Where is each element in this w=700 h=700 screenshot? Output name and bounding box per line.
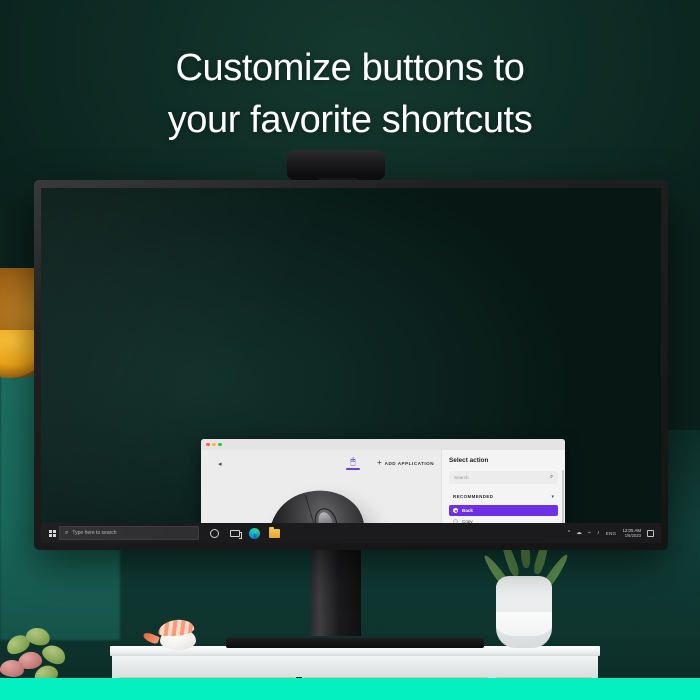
headline-line-2: your favorite shortcuts <box>0 94 700 146</box>
action-label: Back <box>462 508 473 513</box>
section-header-recommended[interactable]: RECOMMENDED ▾ <box>449 491 558 502</box>
plant-vase-band <box>496 612 552 636</box>
panel-scrollbar[interactable] <box>562 470 564 528</box>
taskbar-pinned-icons <box>209 528 280 539</box>
brand-accent-strip <box>0 678 700 700</box>
cortana-icon[interactable] <box>209 528 220 539</box>
search-icon: ⌕ <box>65 530 68 536</box>
network-icon[interactable]: ⌁ <box>588 530 591 536</box>
volume-icon[interactable]: ♪ <box>597 530 600 536</box>
back-button[interactable]: ◂ <box>218 461 222 468</box>
product-marketing-scene: logi ◂ 🖱 <box>0 0 700 700</box>
add-application-label: ADD APPLICATION <box>385 461 434 466</box>
task-view-icon[interactable] <box>229 528 240 539</box>
start-button[interactable] <box>45 530 59 537</box>
monitor-screen: ◂ 🖱 + ADD APPLICATION <box>41 188 661 543</box>
tab-mouse[interactable]: 🖱 <box>343 456 363 470</box>
taskbar-search-placeholder: Type here to search <box>72 530 116 536</box>
maximize-icon[interactable] <box>218 443 222 447</box>
action-search-field[interactable]: Search ⌕ <box>449 471 558 484</box>
file-explorer-icon[interactable] <box>269 528 280 539</box>
edge-icon[interactable] <box>249 528 260 539</box>
clock[interactable]: 12:05 AM 1/6/2023 <box>622 528 641 539</box>
webcam-body: logi <box>287 150 385 180</box>
tray-overflow-icon[interactable]: ^ <box>568 530 571 536</box>
system-tray: ^ ☁ ⌁ ♪ ENG 12:05 AM 1/6/2023 <box>568 528 657 539</box>
page-title: Customize buttons to your favorite short… <box>0 42 700 146</box>
close-icon[interactable] <box>206 443 210 447</box>
window-titlebar[interactable] <box>201 439 565 450</box>
search-icon[interactable]: ⌕ <box>550 475 553 480</box>
app-toolbar: ◂ 🖱 + ADD APPLICATION <box>201 450 441 478</box>
plus-icon: + <box>377 459 382 467</box>
section-label: RECOMMENDED <box>453 494 493 499</box>
chevron-down-icon[interactable]: ▾ <box>551 495 554 499</box>
panel-title: Select action <box>449 457 558 464</box>
mouse-icon: 🖱 <box>343 456 363 466</box>
radio-icon <box>453 508 458 513</box>
action-item-back[interactable]: Back <box>449 505 558 516</box>
clock-date: 1/6/2023 <box>622 533 641 539</box>
notifications-icon[interactable] <box>647 530 654 537</box>
language-indicator[interactable]: ENG <box>606 531 617 536</box>
headline-line-1: Customize buttons to <box>176 47 525 89</box>
action-search-placeholder: Search <box>454 475 469 480</box>
windows-taskbar: ⌕ Type here to search ^ ☁ ⌁ ♪ ENG 12:05 … <box>41 523 661 543</box>
tab-active-indicator <box>346 468 360 470</box>
monitor-stand-neck <box>311 548 361 636</box>
taskbar-search-input[interactable]: ⌕ Type here to search <box>59 526 199 540</box>
monitor-base-plate <box>226 638 484 648</box>
add-application-button[interactable]: + ADD APPLICATION <box>377 459 434 467</box>
minimize-icon[interactable] <box>212 443 216 447</box>
onedrive-icon[interactable]: ☁ <box>576 530 581 536</box>
windows-logo-icon <box>49 530 56 537</box>
